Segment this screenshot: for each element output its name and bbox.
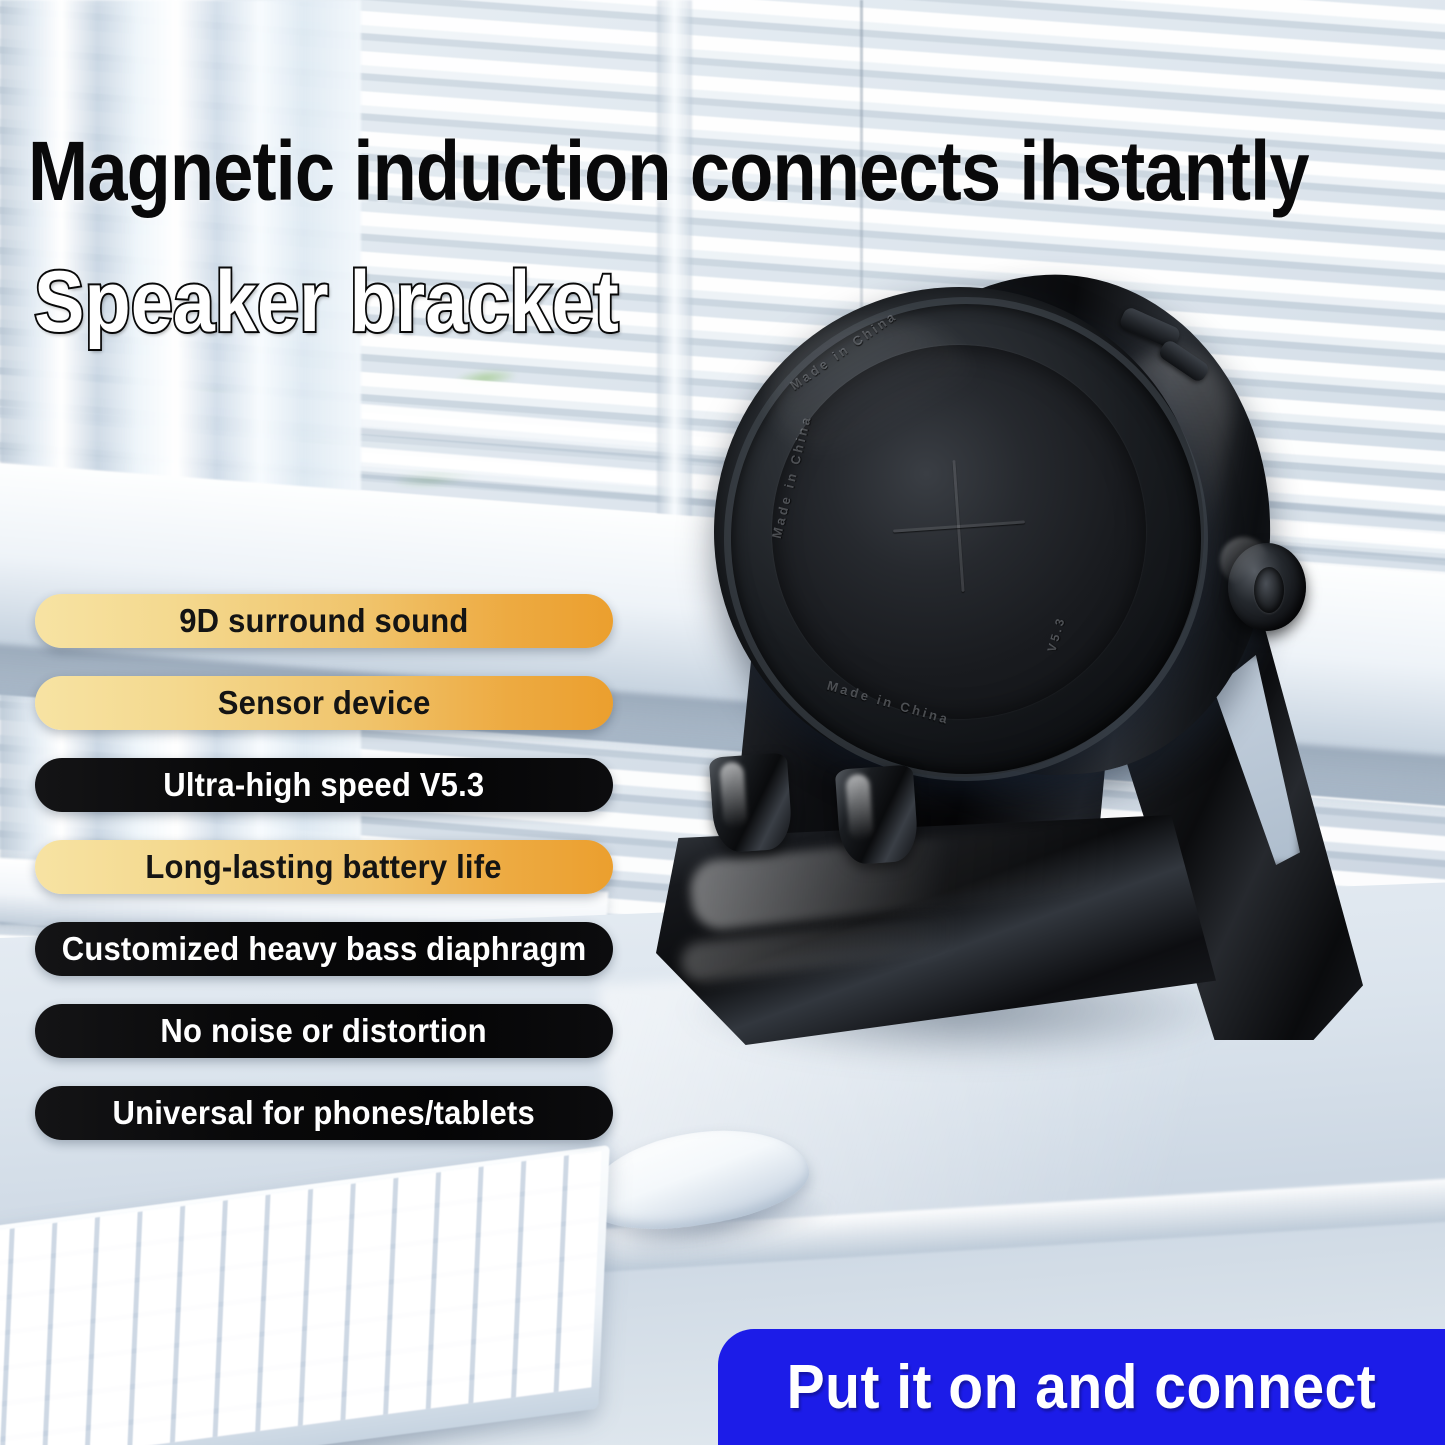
feature-pill-label: No noise or distortion [161, 1012, 487, 1050]
stand-lip-hook-right [835, 764, 920, 865]
product-poster: Made in China Made in China Made in Chin… [0, 0, 1445, 1445]
feature-pill: Sensor device [35, 676, 613, 730]
hook-gloss [845, 773, 874, 841]
speaker-face-gloss [770, 317, 980, 467]
stand-lip-hook-left [709, 752, 794, 853]
subheadline: Speaker bracket [34, 262, 619, 343]
feature-pill-label: Customized heavy bass diaphragm [62, 930, 587, 968]
feature-pill: No noise or distortion [35, 1004, 613, 1058]
bottom-banner-label: Put it on and connect [787, 1352, 1377, 1423]
hook-gloss [719, 761, 748, 829]
feature-pill: Long-lasting battery life [35, 840, 613, 894]
bottom-banner: Put it on and connect [718, 1329, 1445, 1445]
feature-pill-label: Ultra-high speed V5.3 [163, 766, 484, 804]
feature-pill: Ultra-high speed V5.3 [35, 758, 613, 812]
headline: Magnetic induction connects ihstantly [28, 132, 1309, 211]
feature-pill: Universal for phones/tablets [35, 1086, 613, 1140]
pivot-knob-center [1254, 567, 1284, 613]
product-image: Made in China Made in China Made in Chin… [620, 255, 1410, 1085]
feature-pill-label: 9D surround sound [179, 602, 468, 640]
feature-list: 9D surround soundSensor deviceUltra-high… [35, 594, 613, 1168]
feature-pill: Customized heavy bass diaphragm [35, 922, 613, 976]
feature-pill-label: Long-lasting battery life [146, 848, 502, 886]
feature-pill-label: Universal for phones/tablets [113, 1094, 535, 1132]
feature-pill: 9D surround sound [35, 594, 613, 648]
feature-pill-label: Sensor device [218, 684, 431, 722]
